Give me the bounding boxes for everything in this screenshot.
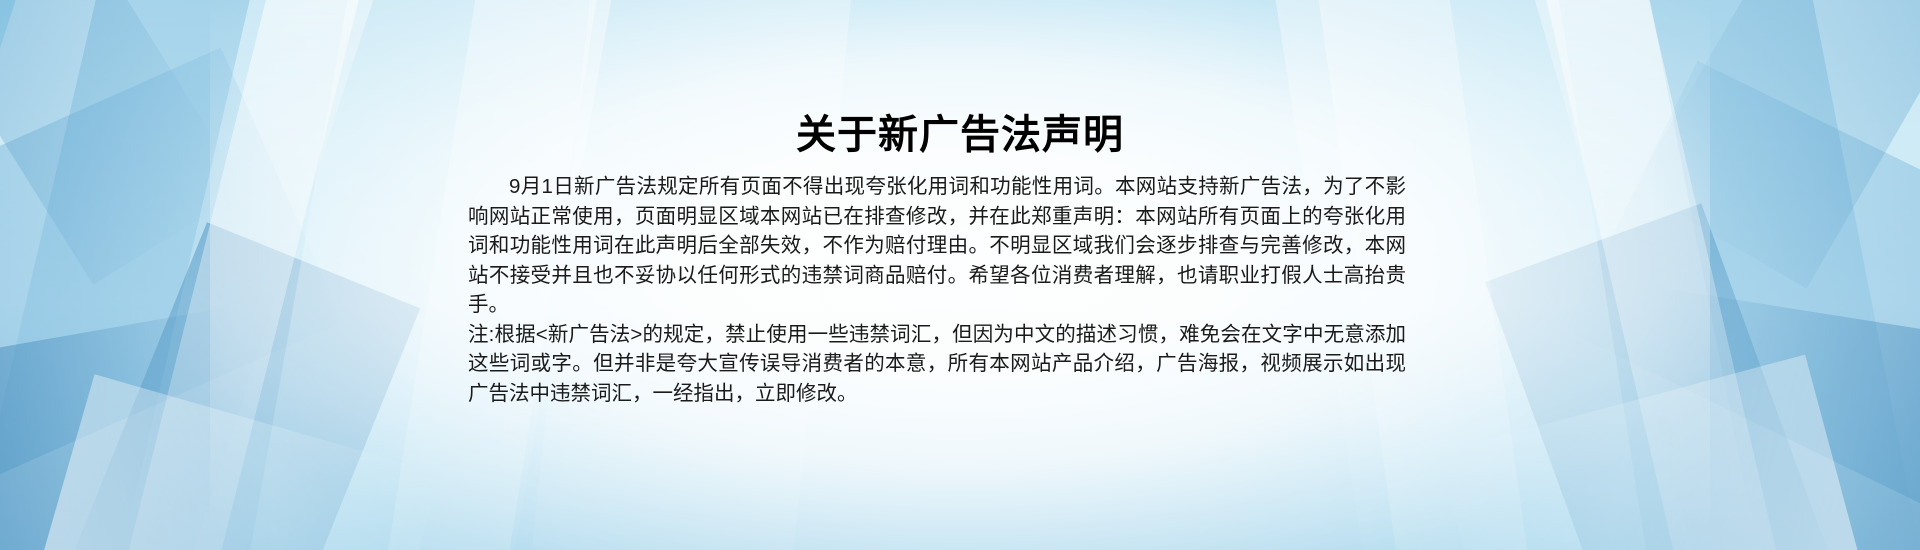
statement-body: 9月1日新广告法规定所有页面不得出现夸张化用词和功能性用词。本网站支持新广告法，… bbox=[468, 172, 1406, 408]
statement-content: 关于新广告法声明 9月1日新广告法规定所有页面不得出现夸张化用词和功能性用词。本… bbox=[0, 0, 1920, 550]
advertising-law-statement-banner: 关于新广告法声明 9月1日新广告法规定所有页面不得出现夸张化用词和功能性用词。本… bbox=[0, 0, 1920, 550]
statement-paragraph-2: 注:根据<新广告法>的规定，禁止使用一些违禁词汇，但因为中文的描述习惯，难免会在… bbox=[468, 320, 1406, 409]
page-title: 关于新广告法声明 bbox=[0, 111, 1920, 159]
statement-paragraph-1: 9月1日新广告法规定所有页面不得出现夸张化用词和功能性用词。本网站支持新广告法，… bbox=[468, 172, 1406, 320]
